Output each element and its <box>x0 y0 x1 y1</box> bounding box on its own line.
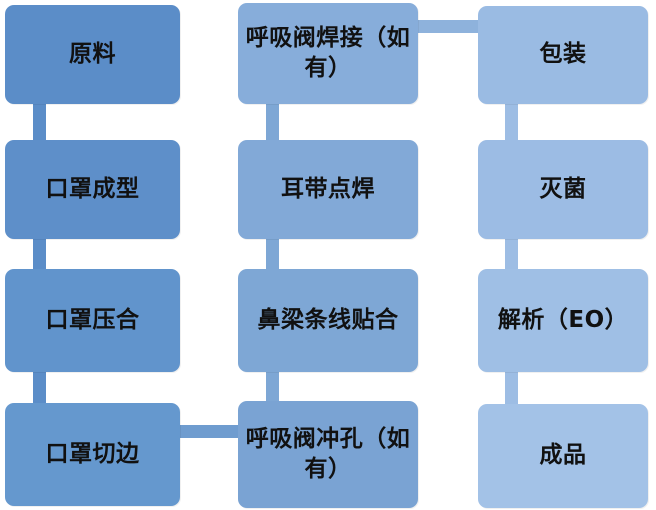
connector-raw-to-forming <box>33 103 46 142</box>
node-valve-punching[interactable]: 呼吸阀冲孔（如有） <box>238 401 418 508</box>
node-mask-pressing-label: 口罩压合 <box>11 306 174 335</box>
node-finished-product[interactable]: 成品 <box>478 404 648 508</box>
connector-valve-punching-to-nosewire <box>266 371 279 404</box>
node-earloop-spot-welding-label: 耳带点焊 <box>244 175 412 204</box>
connector-desorption-to-finished <box>505 371 518 405</box>
connector-pressing-to-trimming <box>33 371 46 405</box>
node-mask-forming-label: 口罩成型 <box>11 175 174 204</box>
node-nose-wire-bonding[interactable]: 鼻梁条线贴合 <box>238 269 418 372</box>
flowchart-canvas: 原料 口罩成型 口罩压合 口罩切边 呼吸阀焊接（如有） 耳带点焊 鼻梁条线贴合 … <box>0 0 656 510</box>
node-desorption-eo[interactable]: 解析（EO） <box>478 269 648 372</box>
connector-trimming-to-valve-punching <box>178 425 240 438</box>
node-valve-punching-label: 呼吸阀冲孔（如有） <box>244 425 412 484</box>
node-mask-forming[interactable]: 口罩成型 <box>5 140 180 239</box>
node-mask-trimming-label: 口罩切边 <box>11 440 174 469</box>
node-raw-material[interactable]: 原料 <box>5 5 180 104</box>
node-desorption-eo-label: 解析（EO） <box>484 306 642 335</box>
node-raw-material-label: 原料 <box>11 40 174 69</box>
connector-sterilization-to-desorption <box>505 238 518 271</box>
node-packaging-label: 包装 <box>484 40 642 69</box>
node-valve-welding[interactable]: 呼吸阀焊接（如有） <box>238 3 418 104</box>
connector-packaging-to-sterilization <box>505 103 518 142</box>
node-finished-product-label: 成品 <box>484 441 642 470</box>
connector-valve-welding-to-packaging <box>416 20 480 33</box>
node-earloop-spot-welding[interactable]: 耳带点焊 <box>238 140 418 239</box>
node-packaging[interactable]: 包装 <box>478 6 648 104</box>
node-sterilization-label: 灭菌 <box>484 175 642 204</box>
connector-earloop-welding-to-valve-welding <box>266 103 279 142</box>
node-mask-pressing[interactable]: 口罩压合 <box>5 269 180 372</box>
connector-nosewire-to-earloop-welding <box>266 238 279 271</box>
node-mask-trimming[interactable]: 口罩切边 <box>5 403 180 506</box>
node-valve-welding-label: 呼吸阀焊接（如有） <box>244 24 412 83</box>
node-sterilization[interactable]: 灭菌 <box>478 140 648 239</box>
connector-forming-to-pressing <box>33 238 46 271</box>
node-nose-wire-bonding-label: 鼻梁条线贴合 <box>244 306 412 335</box>
